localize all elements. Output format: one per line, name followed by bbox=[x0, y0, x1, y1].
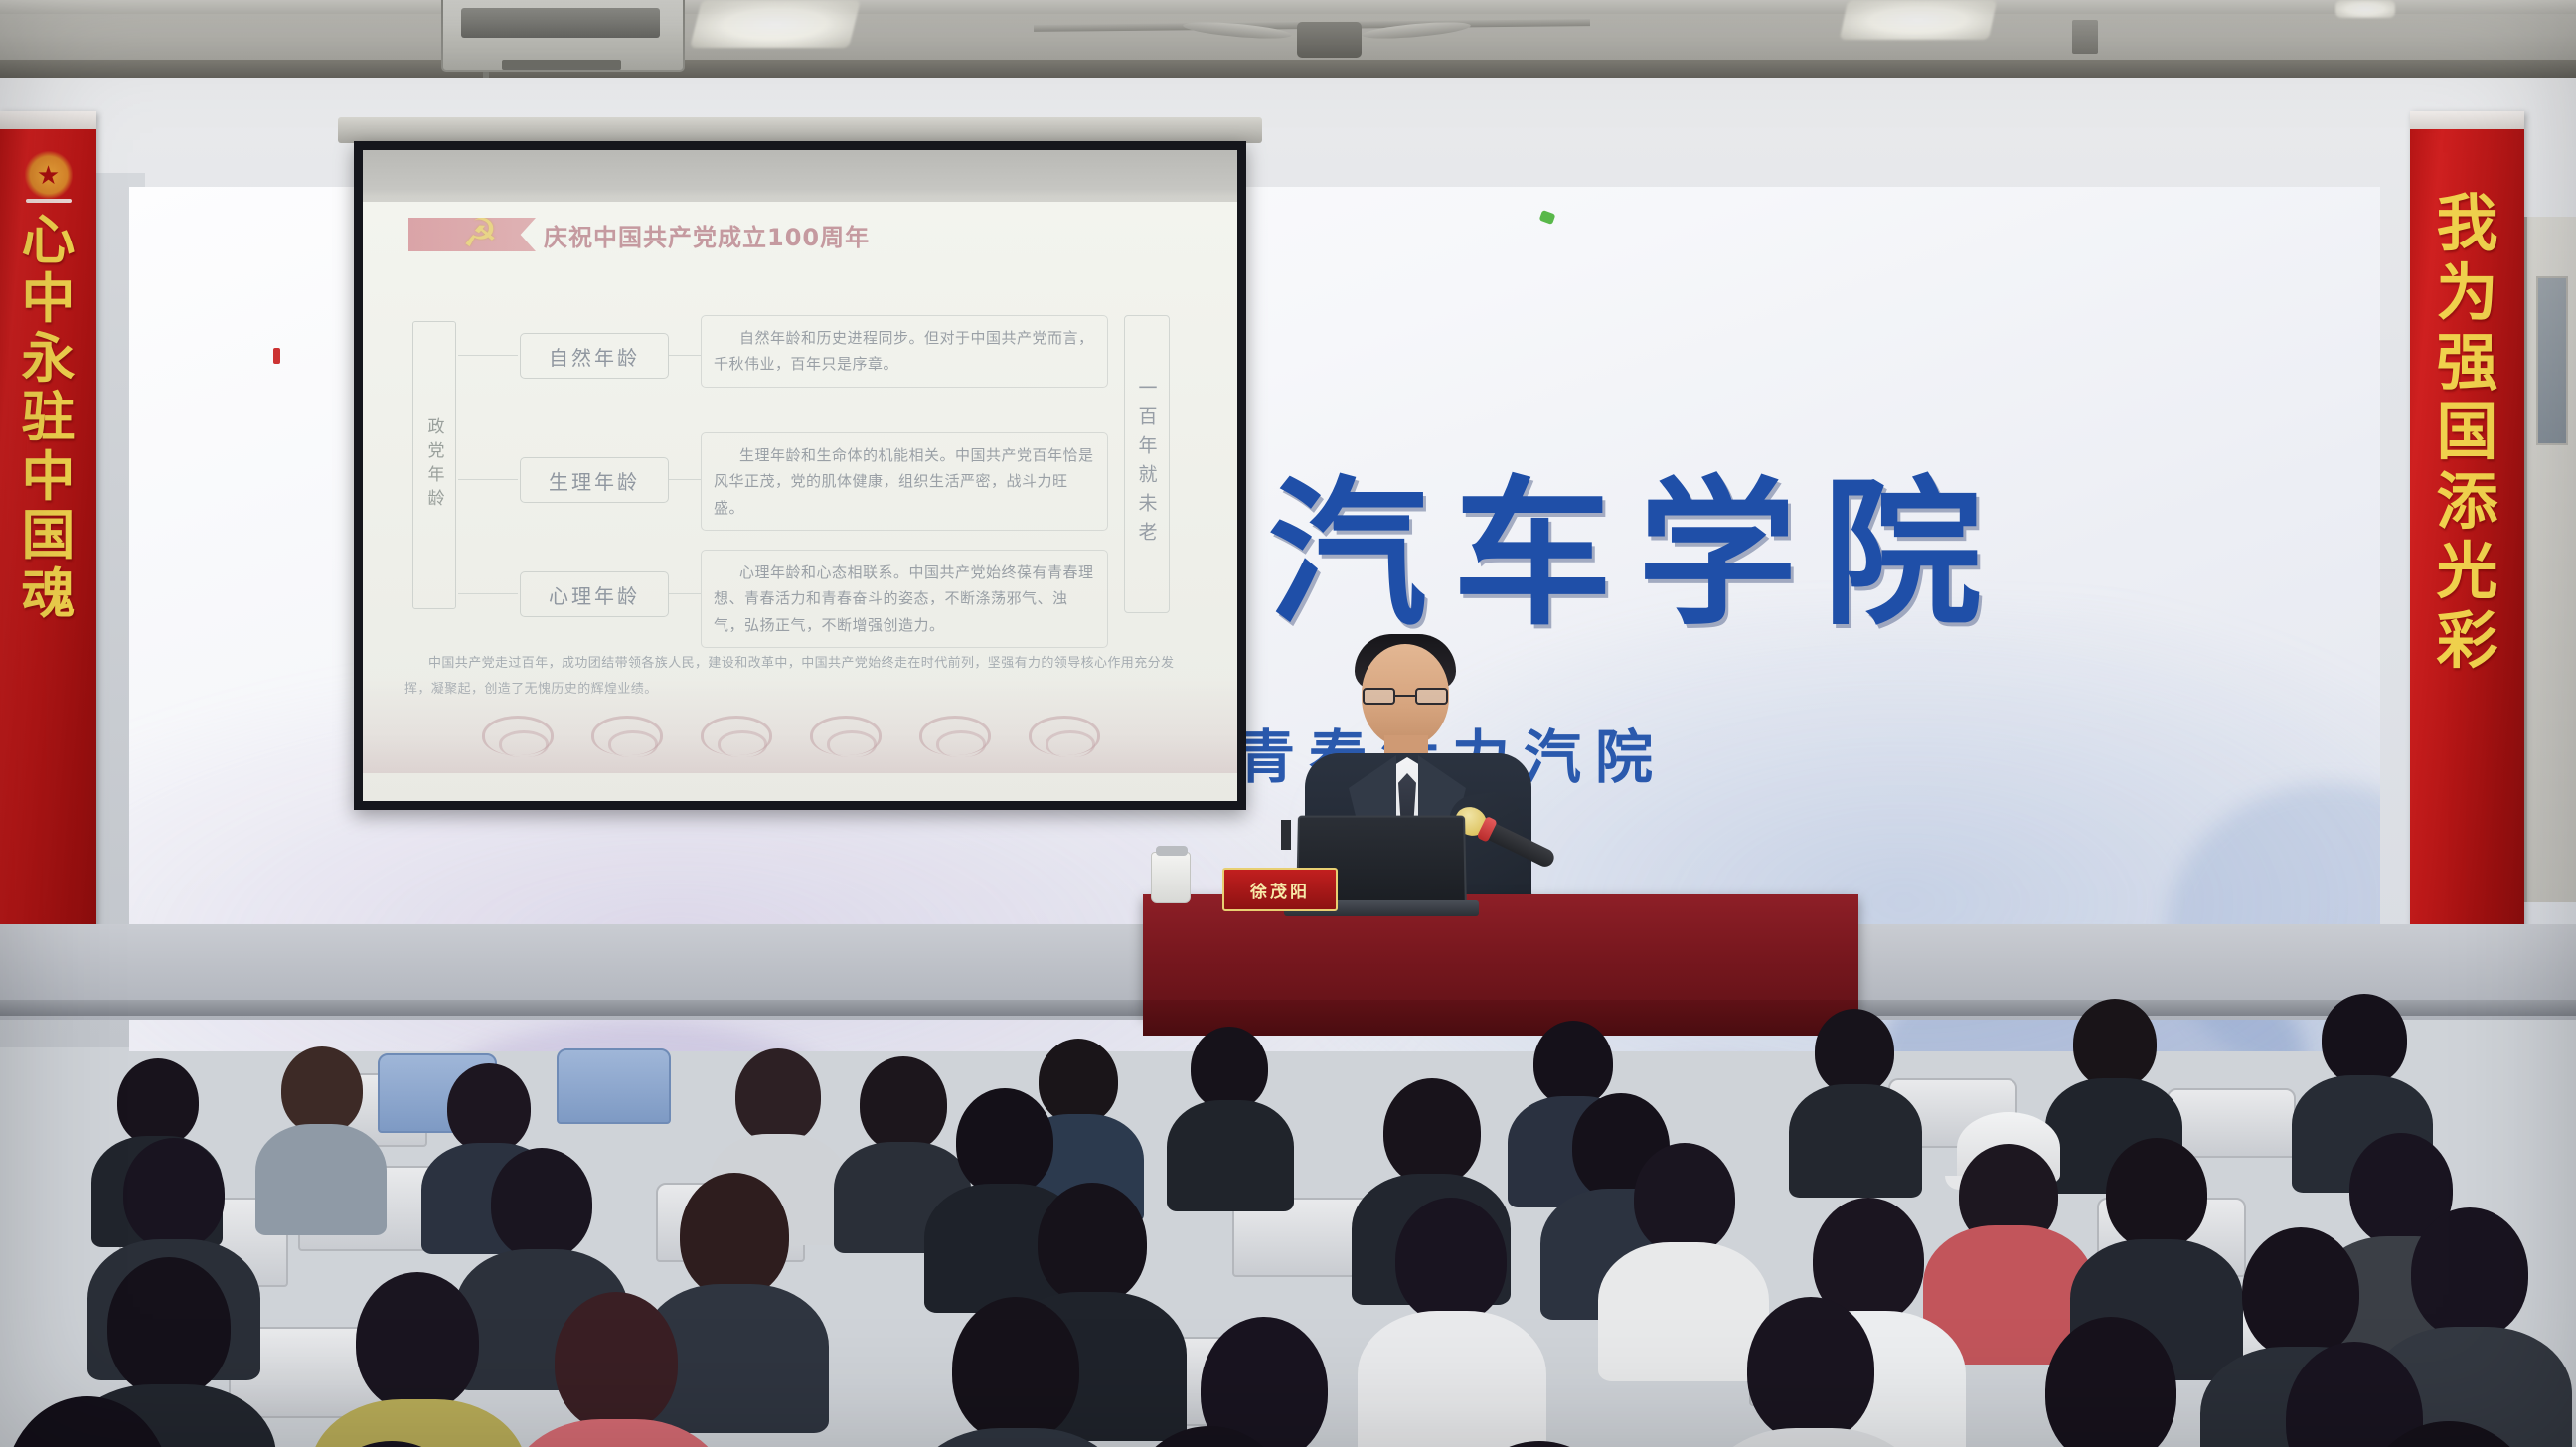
person-body bbox=[1358, 1311, 1546, 1447]
person-head bbox=[1449, 1441, 1630, 1447]
ceiling-fan bbox=[1222, 8, 1431, 58]
connector-1 bbox=[458, 355, 518, 356]
person-head bbox=[447, 1063, 531, 1153]
fan-blade-left bbox=[1183, 19, 1293, 42]
ceiling-light-3 bbox=[2335, 0, 2395, 18]
person-head bbox=[304, 1441, 479, 1447]
audience-person bbox=[1799, 1009, 1916, 1158]
cloud-motif-3 bbox=[701, 716, 772, 755]
person-head bbox=[2045, 1317, 2176, 1447]
lecture-hall-photo: 代汽车学院 青春活力汽院 ★ 心 中 永 驻 中 国 魂 我 为 强 国 bbox=[0, 0, 2576, 1447]
presentation-slide: ☭ 庆祝中国共产党成立100周年 政党年龄 自然年龄 生理年龄 bbox=[363, 202, 1237, 773]
diagram-box-psychological-age: 心理年龄 bbox=[520, 571, 669, 617]
person-head bbox=[1815, 1009, 1894, 1094]
audience-person bbox=[2017, 1317, 2206, 1447]
scroll-right-char-1: 为 bbox=[2436, 258, 2497, 328]
glasses-bridge bbox=[1395, 695, 1415, 697]
person-body bbox=[310, 1399, 527, 1447]
diagram-box-physiological-age: 生理年龄 bbox=[520, 457, 669, 503]
person-head bbox=[555, 1292, 678, 1431]
person-body bbox=[1701, 1428, 1926, 1447]
cloud-motif-5 bbox=[919, 716, 991, 755]
diagram-desc-1: 自然年龄和历史进程同步。但对于中国共产党而言，千秋伟业，百年只是序章。 bbox=[701, 315, 1108, 388]
audience-person bbox=[263, 1046, 383, 1196]
person-head bbox=[117, 1058, 199, 1146]
audience-person bbox=[1719, 1297, 1903, 1447]
party-flag-icon: ☭ bbox=[408, 218, 536, 251]
fan-hub bbox=[1297, 22, 1362, 58]
slide-diagram: 政党年龄 自然年龄 生理年龄 心理年龄 自然年龄和历史进程同步。但对于中国共产党… bbox=[402, 283, 1198, 641]
hammer-sickle-icon: ☭ bbox=[452, 212, 508, 257]
scroll-right-char-6: 彩 bbox=[2436, 606, 2497, 676]
scroll-left-char-6: 魂 bbox=[22, 564, 76, 623]
projection-screen-frame: ☭ 庆祝中国共产党成立100周年 政党年龄 自然年龄 生理年龄 bbox=[354, 141, 1246, 810]
person-body bbox=[255, 1124, 387, 1235]
connector-5 bbox=[669, 479, 701, 480]
glasses-lens-left bbox=[1363, 688, 1395, 705]
audience-person bbox=[527, 1292, 706, 1447]
cloud-motif-2 bbox=[591, 716, 663, 755]
scroll-right-char-3: 国 bbox=[2436, 398, 2497, 467]
scroll-left-characters: 心 中 永 驻 中 国 魂 bbox=[0, 211, 96, 624]
scroll-left-char-3: 驻 bbox=[22, 388, 76, 446]
person-head bbox=[1395, 1198, 1507, 1323]
scroll-left-char-4: 中 bbox=[22, 447, 76, 506]
person-head bbox=[735, 1048, 821, 1144]
microphone-stand bbox=[1281, 820, 1291, 850]
person-head bbox=[2242, 1227, 2359, 1359]
person-head bbox=[2106, 1138, 2207, 1249]
connector-4 bbox=[669, 355, 701, 356]
audience-person bbox=[1371, 1198, 1532, 1401]
audience-person bbox=[1173, 1027, 1290, 1176]
connector-6 bbox=[669, 593, 701, 594]
eyeglasses-icon bbox=[1363, 688, 1448, 706]
projection-screen: ☭ 庆祝中国共产党成立100周年 政党年龄 自然年龄 生理年龄 bbox=[363, 150, 1237, 801]
scroll-right-char-5: 光 bbox=[2436, 537, 2497, 606]
person-head bbox=[4, 1396, 171, 1447]
person-head bbox=[956, 1088, 1053, 1196]
cloud-motif-6 bbox=[1029, 716, 1100, 755]
person-head bbox=[281, 1046, 363, 1134]
projector-mount bbox=[502, 60, 621, 70]
scroll-left-tick bbox=[26, 199, 72, 203]
slide-header-text: 庆祝中国共产党成立100周年 bbox=[544, 218, 870, 252]
audience-person bbox=[924, 1297, 1108, 1447]
audience-person bbox=[268, 1441, 517, 1447]
audience-person bbox=[2316, 1421, 2576, 1447]
person-body bbox=[1167, 1100, 1294, 1211]
person-head bbox=[952, 1297, 1079, 1442]
audience-person bbox=[1933, 1118, 2082, 1307]
slide-cloud-decoration bbox=[363, 678, 1237, 773]
ceiling-fixture-box bbox=[2072, 20, 2098, 54]
fan-blade-right bbox=[1362, 19, 1472, 42]
scroll-right-char-0: 我 bbox=[2436, 189, 2497, 258]
diagram-box-natural-age: 自然年龄 bbox=[520, 333, 669, 379]
person-head bbox=[123, 1138, 225, 1249]
banner-scroll-left: ★ 心 中 永 驻 中 国 魂 bbox=[0, 111, 96, 946]
audience-person bbox=[2082, 1138, 2231, 1327]
scroll-right-characters: 我 为 强 国 添 光 彩 bbox=[2410, 189, 2524, 676]
person-head bbox=[1634, 1143, 1735, 1254]
person-head bbox=[2073, 999, 2157, 1088]
scroll-left-char-5: 国 bbox=[22, 506, 76, 564]
diagram-root-node: 政党年龄 bbox=[412, 321, 456, 609]
diagram-desc-2: 生理年龄和生命体的机能相关。中国共产党百年恰是风华正茂，党的肌体健康，组织生活严… bbox=[701, 432, 1108, 531]
scroll-left-char-2: 永 bbox=[22, 329, 76, 388]
ceiling-light-2 bbox=[1840, 0, 1998, 40]
glasses-lens-right bbox=[1415, 688, 1448, 705]
banner-scroll-right: 我 为 强 国 添 光 彩 bbox=[2410, 111, 2524, 946]
person-head bbox=[2411, 1207, 2528, 1339]
person-head bbox=[491, 1148, 592, 1259]
audience-person bbox=[0, 1396, 209, 1447]
diagram-side-callout: 一百年就未老 bbox=[1124, 315, 1170, 613]
scroll-right-cap bbox=[2410, 111, 2524, 129]
person-head bbox=[1747, 1297, 1874, 1442]
person-head bbox=[1191, 1027, 1268, 1110]
person-head bbox=[107, 1257, 231, 1396]
star-glyph: ★ bbox=[37, 162, 60, 188]
person-body bbox=[509, 1419, 727, 1447]
projection-screen-roller bbox=[338, 117, 1262, 143]
audience-person bbox=[328, 1272, 507, 1447]
ceiling bbox=[0, 0, 2576, 78]
wall-red-mark bbox=[273, 348, 280, 364]
water-cup bbox=[1151, 852, 1191, 903]
person-head bbox=[356, 1272, 479, 1411]
cloud-motif-1 bbox=[482, 716, 554, 755]
person-head bbox=[1038, 1183, 1147, 1304]
person-head bbox=[1383, 1078, 1481, 1186]
audience-person bbox=[2306, 994, 2427, 1143]
diagram-root-label: 政党年龄 bbox=[422, 417, 447, 513]
scroll-left-char-0: 心 bbox=[22, 211, 76, 269]
scroll-right-char-2: 强 bbox=[2436, 328, 2497, 398]
audience-person bbox=[1083, 1426, 1337, 1447]
person-head bbox=[680, 1173, 789, 1298]
person-head bbox=[2322, 994, 2407, 1085]
person-head bbox=[2355, 1421, 2542, 1447]
person-body bbox=[1789, 1084, 1922, 1198]
audience-seating-area bbox=[0, 899, 2576, 1447]
person-head bbox=[1121, 1426, 1298, 1447]
connector-3 bbox=[458, 593, 518, 594]
scroll-right-char-4: 添 bbox=[2436, 467, 2497, 537]
chair bbox=[557, 1048, 671, 1124]
connector-2 bbox=[458, 479, 518, 480]
slide-header: ☭ 庆祝中国共产党成立100周年 bbox=[408, 214, 870, 255]
diagram-side-label: 一百年就未老 bbox=[1134, 378, 1161, 551]
scroll-left-cap bbox=[0, 111, 96, 129]
red-star-icon: ★ bbox=[25, 151, 73, 199]
ceiling-light-1 bbox=[690, 0, 861, 48]
diagram-desc-3: 心理年龄和心态相联系。中国共产党始终葆有青春理想、青春活力和青春奋斗的姿态，不断… bbox=[701, 550, 1108, 648]
cloud-motif-4 bbox=[810, 716, 882, 755]
scroll-left-char-1: 中 bbox=[22, 269, 76, 328]
right-door-window bbox=[2536, 276, 2568, 445]
audience-person bbox=[1411, 1441, 1670, 1447]
